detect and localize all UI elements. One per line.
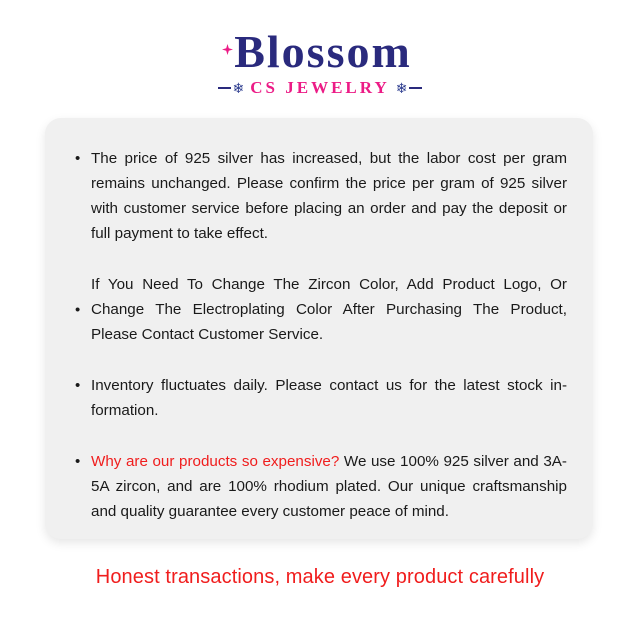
list-item: • Why are our products so expensive? We … (71, 449, 567, 524)
notice-bullet-list: • The price of 925 silver has increased,… (71, 146, 567, 524)
brand-wordmark: Blossom (228, 28, 412, 76)
ornament-left: ❄ (218, 81, 245, 95)
list-item-highlight: Why are our products so expensive? (91, 453, 339, 470)
brand-wordmark-text: Blossom (234, 26, 412, 77)
list-item: • If You Need To Change The Zircon Color… (71, 272, 567, 347)
brand-subtitle: CS JEWELRY (250, 78, 389, 98)
list-item-text: The price of 925 silver has increased, b… (91, 150, 567, 242)
list-item-text: Inventory fluctuates daily. Please conta… (91, 377, 567, 419)
bullet-marker: • (75, 146, 80, 171)
ornament-dash-left (218, 87, 231, 89)
footer-tagline: Honest transactions, make every product … (0, 566, 640, 589)
snowflake-ornament-icon: ❄ (233, 81, 245, 95)
bullet-marker: • (75, 373, 80, 398)
list-item: • Inventory fluctuates daily. Please con… (71, 373, 567, 423)
brand-subline: ❄ CS JEWELRY ❄ (0, 78, 640, 98)
notice-card: • The price of 925 silver has increased,… (45, 118, 593, 539)
list-item: • The price of 925 silver has increased,… (71, 146, 567, 246)
ornament-dash-right (409, 87, 422, 89)
snowflake-ornament-icon: ❄ (396, 81, 408, 95)
diamond-sparkle-icon (222, 44, 233, 55)
bullet-marker: • (75, 302, 80, 317)
bullet-marker: • (75, 449, 80, 474)
ornament-right: ❄ (396, 81, 423, 95)
brand-header: Blossom ❄ CS JEWELRY ❄ (0, 0, 640, 98)
list-item-text: If You Need To Change The Zircon Color, … (91, 276, 567, 343)
